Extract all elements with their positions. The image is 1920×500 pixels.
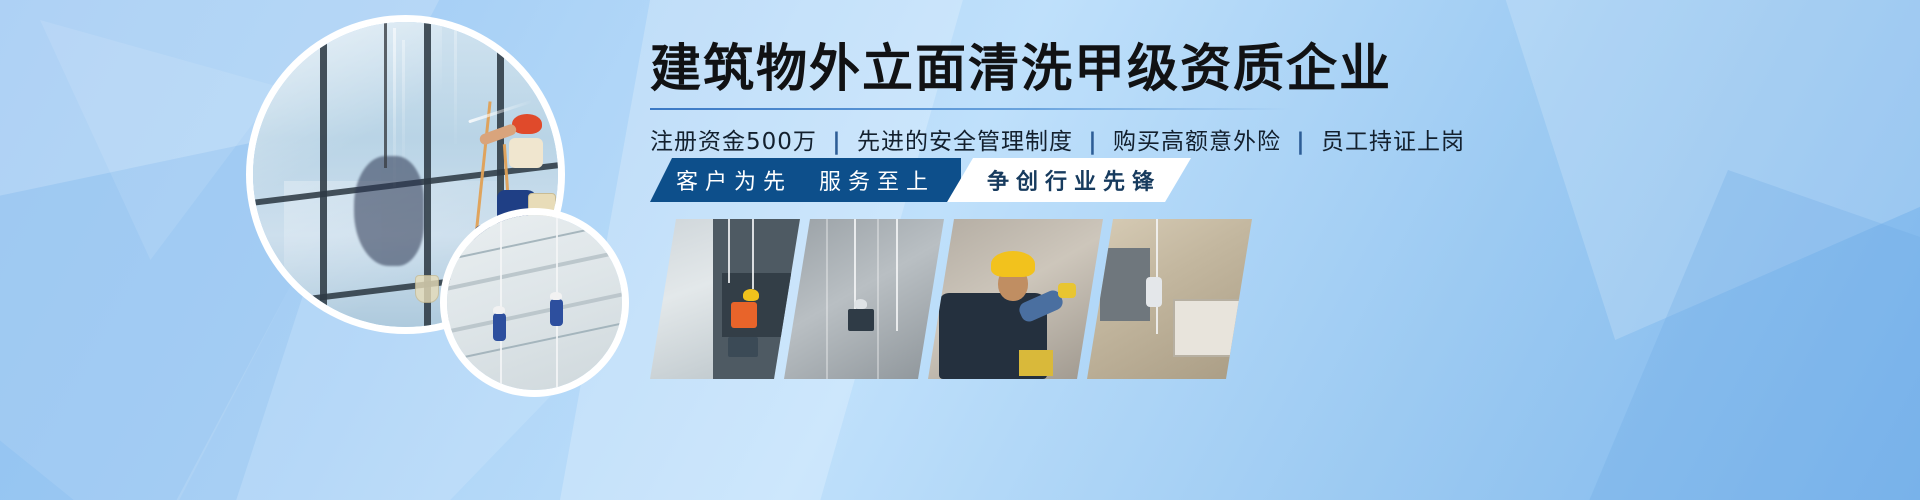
water-streak — [402, 40, 405, 174]
worker-helmet-icon — [550, 292, 562, 300]
subline-item-1: 注册资金500万 — [650, 129, 817, 155]
subline: 注册资金500万 | 先进的安全管理制度 | 购买高额意外险 | 员工持证上岗 — [650, 122, 1890, 156]
water-streak — [454, 22, 457, 144]
headline: 建筑物外立面清洗甲级资质企业 — [650, 42, 1890, 97]
ribbon-segment-customer-first: 客户为先 — [650, 158, 810, 202]
worker-shirt — [509, 138, 543, 168]
tile-image — [650, 219, 800, 379]
drop-line — [896, 219, 898, 331]
drop-line — [728, 219, 730, 283]
worker-figure — [1146, 277, 1162, 307]
worker-figure — [848, 309, 874, 331]
worker-figure — [493, 313, 506, 341]
wall-seam — [826, 219, 828, 379]
subline-separator: | — [832, 129, 841, 155]
text-block: 建筑物外立面清洗甲级资质企业 注册资金500万 | 先进的安全管理制度 | 购买… — [650, 42, 1890, 156]
worker-helmet-icon — [493, 306, 505, 314]
ribbon-segment-industry-pioneer: 争创行业先锋 — [947, 158, 1191, 202]
photo-strip — [650, 219, 1290, 379]
worker-helmet-icon — [743, 289, 759, 301]
work-bucket — [415, 275, 439, 303]
photo-tile-worker-yellow-helmet-closeup — [928, 219, 1103, 379]
pane-sheen — [253, 22, 442, 190]
photo-tile-worker-near-balcony — [1087, 219, 1252, 379]
safety-rope — [384, 22, 387, 168]
worker-safety-vest — [731, 302, 757, 328]
worker-helmet-icon — [512, 114, 542, 134]
worker-glove — [1058, 283, 1076, 298]
tile-image — [928, 219, 1103, 379]
slogan-ribbon: 客户为先 服务至上 争创行业先锋 — [650, 158, 1278, 202]
tile-image — [784, 219, 944, 379]
worker-helmet-icon — [854, 299, 867, 309]
wall-seam — [877, 219, 879, 379]
subline-separator: | — [1088, 129, 1097, 155]
mullion-vertical — [320, 22, 327, 327]
drop-line — [500, 215, 502, 390]
photo-circle-facade-workers — [447, 215, 622, 390]
building-window — [1100, 248, 1150, 322]
subline-item-4: 员工持证上岗 — [1321, 129, 1465, 155]
promo-banner: 建筑物外立面清洗甲级资质企业 注册资金500万 | 先进的安全管理制度 | 购买… — [0, 0, 1920, 500]
worker-figure — [550, 299, 563, 326]
wall-panel — [1019, 350, 1053, 376]
window-reflection — [354, 156, 424, 266]
drop-line — [752, 219, 754, 289]
worker-pants — [728, 337, 758, 357]
headline-underline — [650, 108, 1290, 110]
subline-item-2: 先进的安全管理制度 — [857, 129, 1073, 155]
subline-separator: | — [1296, 129, 1305, 155]
photo-tile-worker-orange-vest-rope — [650, 219, 800, 379]
subline-item-3: 购买高额意外险 — [1113, 129, 1281, 155]
tile-image — [1087, 219, 1252, 379]
worker-helmet-icon — [991, 251, 1035, 277]
ribbon-segment-service-supreme: 服务至上 — [809, 158, 961, 202]
photo-tile-worker-grey-concrete-wall — [784, 219, 944, 379]
balcony — [1173, 299, 1250, 357]
